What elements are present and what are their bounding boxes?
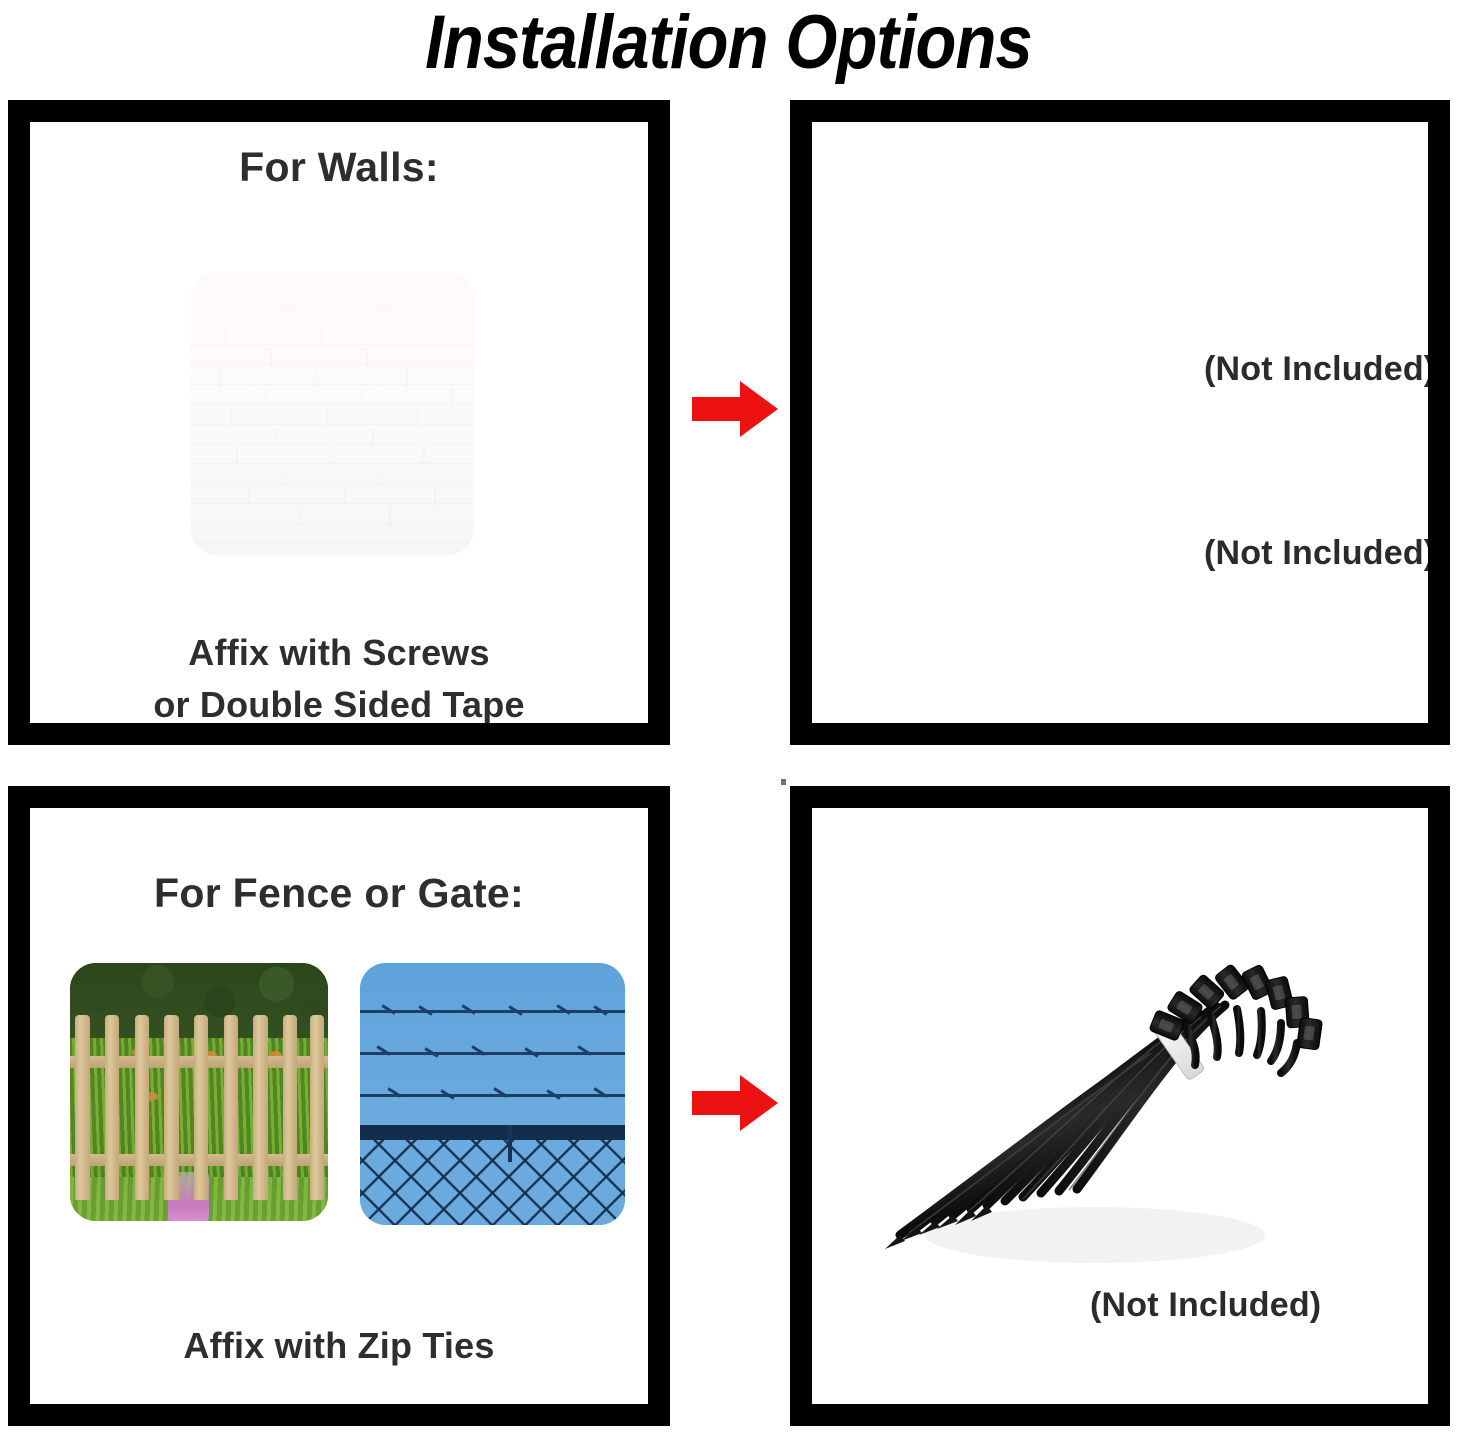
panel-wall-hardware: (Not Included)	[790, 100, 1450, 745]
wall-hardware-screws-not-included-label: (Not Included)	[1204, 534, 1428, 573]
fence-hardware-zip-ties-not-included-label: (Not Included)	[1090, 1286, 1321, 1325]
page-title: Installation Options	[87, 0, 1369, 88]
brick-photo-overlay	[191, 272, 474, 555]
panel-wall-hardware-inner: (Not Included)	[812, 122, 1428, 723]
chain-link-barbed-wire-fence-photo	[360, 963, 625, 1225]
panel-for-walls-caption-line1: Affix with Screws	[30, 627, 648, 679]
arrow-walls-to-hardware-icon	[690, 378, 780, 440]
panel-for-walls-heading: For Walls:	[30, 144, 648, 191]
arrow-fence-to-hardware-icon	[690, 1072, 780, 1134]
wooden-picket-fence-photo	[70, 963, 328, 1221]
panel-for-walls-inner: For Walls:	[30, 122, 648, 723]
panel-for-fence-heading: For Fence or Gate:	[30, 870, 648, 917]
white-brick-wall-photo	[191, 272, 474, 555]
fence-top-rail	[360, 1125, 625, 1140]
chain-link-mesh	[360, 1140, 625, 1225]
zip-ties-bundle-icon	[845, 905, 1345, 1295]
panel-for-walls: For Walls:	[8, 100, 670, 745]
wall-hardware-tape-not-included-label: (Not Included)	[1204, 350, 1428, 389]
panel-for-fence-caption: Affix with Zip Ties	[8, 1320, 670, 1372]
panel-for-walls-caption-line2: or Double Sided Tape	[30, 679, 648, 723]
image-speck	[781, 779, 786, 785]
